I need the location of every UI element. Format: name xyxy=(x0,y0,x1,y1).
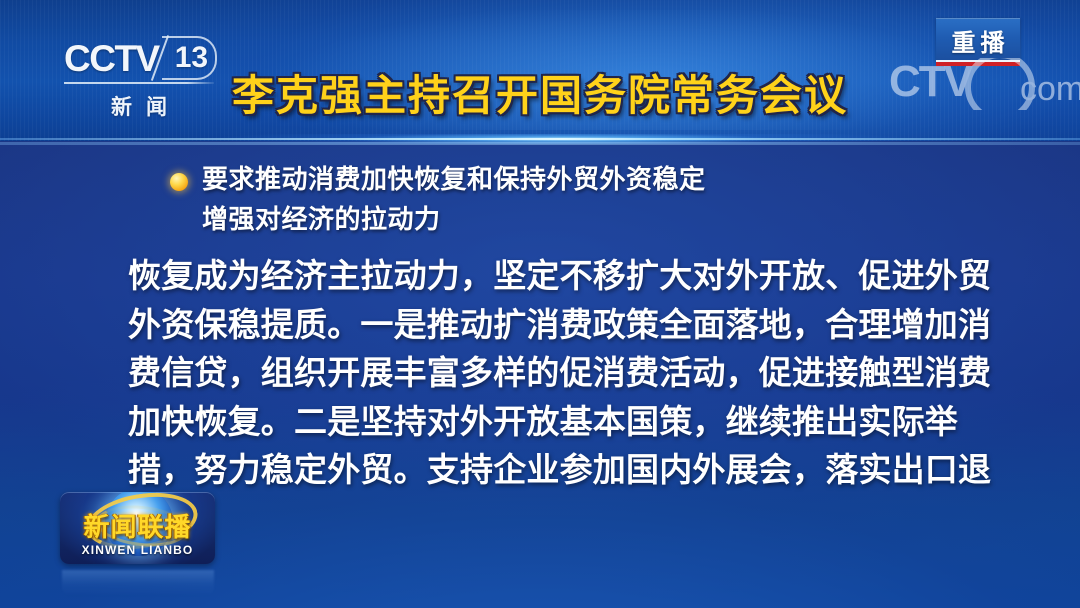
cctv13-number-text: 13 xyxy=(175,43,208,73)
subtitle-block: 要求推动消费加快恢复和保持外贸外资稳定 增强对经济的拉动力 xyxy=(170,160,990,240)
subtitle-line: 增强对经济的拉动力 xyxy=(202,200,990,240)
cctv-wordmark-text: CCTV xyxy=(64,40,159,77)
xinwen-lianbo-logo: 新闻联播 XINWEN LIANBO xyxy=(60,492,215,564)
body-line: 外资保稳提质。一是推动扩消费政策全面落地，合理增加消 xyxy=(128,301,958,350)
header-divider-soft-line xyxy=(0,142,1080,145)
body-text-block: 恢复成为经济主拉动力，坚定不移扩大对外开放、促进外贸 外资保稳提质。一是推动扩消… xyxy=(128,252,958,495)
body-line: 恢复成为经济主拉动力，坚定不移扩大对外开放、促进外贸 xyxy=(128,252,958,301)
rebroadcast-label: 重播 xyxy=(947,23,1010,58)
broadcast-screen: CCTV 13 新闻 重播 CTV com 李克强主持召开国务院常务会议 要求推… xyxy=(0,0,1080,608)
rebroadcast-badge: 重播 xyxy=(936,18,1020,61)
page-title: 李克强主持召开国务院常务会议 xyxy=(0,73,1080,119)
xinwen-lianbo-pinyin-label: XINWEN LIANBO xyxy=(60,543,215,557)
body-line: 费信贷，组织开展丰富多样的促消费活动，促进接触型消费 xyxy=(128,349,958,398)
body-line: 加快恢复。二是坚持对外开放基本国策，继续推出实际举 xyxy=(128,398,958,447)
logo-reflection xyxy=(62,570,214,596)
body-line: 措，努力稳定外贸。支持企业参加国内外展会，落实出口退 xyxy=(128,446,958,495)
bullet-dot-icon xyxy=(170,173,188,191)
xinwen-lianbo-chinese-label: 新闻联播 xyxy=(60,514,215,543)
subtitle-line: 要求推动消费加快恢复和保持外贸外资稳定 xyxy=(202,160,990,200)
